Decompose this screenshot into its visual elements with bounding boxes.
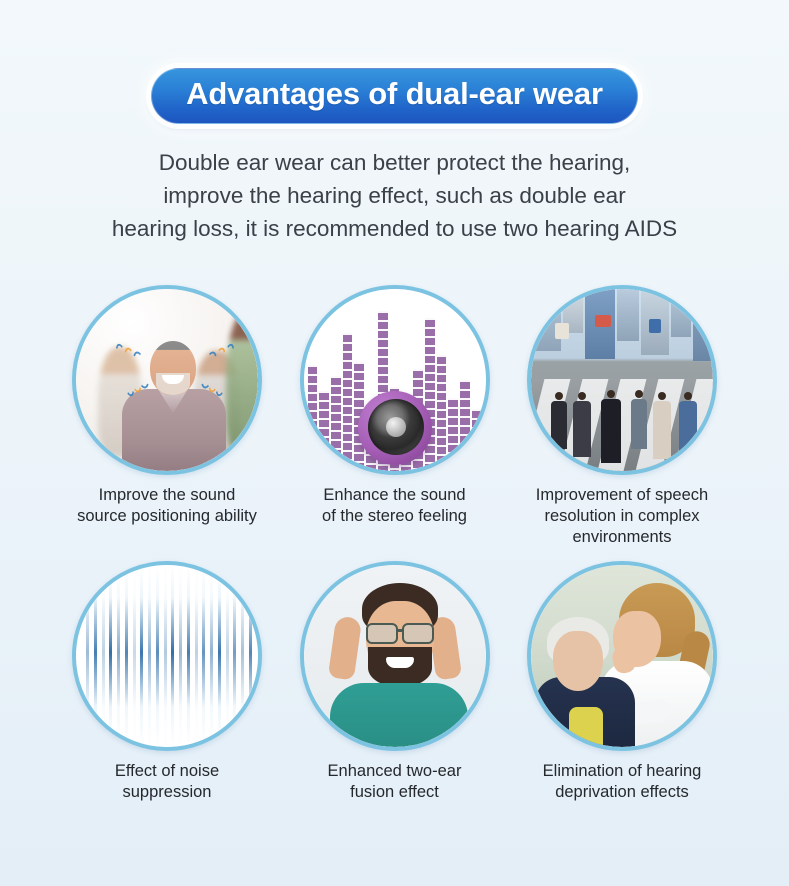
waveform-line [109,565,112,747]
page-title-container: Advantages of dual-ear wear [0,68,789,124]
feature-caption-line: source positioning ability [60,506,274,527]
billboard [649,319,661,333]
feature-item-speech-resolution-complex[interactable]: Improvement of speech resolution in comp… [517,285,727,548]
pedestrian [631,399,647,449]
waveform-line [86,565,89,747]
waveform-line [187,565,190,747]
pedestrian [653,401,671,459]
waveform-line [156,565,159,747]
feature-caption-line: environments [515,527,729,548]
teal-shirt [330,683,468,747]
billboard [555,323,569,339]
waveform-line [94,565,97,747]
feature-row-1: Improve the sound source positioning abi… [62,285,727,548]
feature-caption: Improvement of speech resolution in comp… [515,485,729,548]
feature-caption-line: Improve the sound [60,485,274,506]
waveform-line [102,565,105,747]
pedestrian [551,401,567,449]
waveform-line [140,565,143,747]
equalizer-bar [308,365,318,471]
waveform-line [195,565,198,747]
building [535,289,561,351]
waveform-line [241,565,244,747]
blue-audio-waveform-graphic [76,565,258,747]
waveform-line [218,565,221,747]
feature-item-stereo-feeling[interactable]: Enhance the sound of the stereo feeling [290,285,500,527]
feature-caption: Improve the sound source positioning abi… [60,485,274,527]
subtitle-paragraph: Double ear wear can better protect the h… [0,146,789,245]
feature-image-circle [300,561,490,751]
feature-row-2: Effect of noise suppression [62,561,727,803]
equalizer-bar [343,333,353,471]
glasses-lens [402,623,434,644]
feature-grid: Improve the sound source positioning abi… [62,285,727,803]
waveform-line [233,565,236,747]
feature-item-two-ear-fusion[interactable]: Enhanced two-ear fusion effect [290,561,500,803]
waveform-line [164,565,167,747]
man-cupping-ears-photo [304,565,486,747]
glasses-lens [366,623,398,644]
building [693,289,713,361]
caregiver-with-elderly-woman-photo [531,565,713,747]
man-with-sound-waves-photo [76,289,258,471]
city-crosswalk-crowd-photo [531,289,713,471]
speaker-cone [386,417,406,437]
building [617,289,639,341]
page-title: Advantages of dual-ear wear [186,78,603,111]
feature-image-circle [300,285,490,475]
waveform-line [133,565,136,747]
feature-caption-line: Enhanced two-ear [288,761,502,782]
feature-caption-line: suppression [60,782,274,803]
title-banner: Advantages of dual-ear wear [151,68,638,124]
feature-item-sound-source-positioning[interactable]: Improve the sound source positioning abi… [62,285,272,527]
equalizer-bar [331,376,341,471]
subtitle-line-2: improve the hearing effect, such as doub… [0,179,789,212]
feature-caption-line: Enhance the sound [288,485,502,506]
feature-caption-line: Elimination of hearing [515,761,729,782]
subtitle-line-3: hearing loss, it is recommended to use t… [0,212,789,245]
man-smile [386,657,414,668]
waveform-line [226,565,229,747]
feature-item-hearing-deprivation[interactable]: Elimination of hearing deprivation effec… [517,561,727,803]
cupped-hand-left [327,615,361,680]
waveform-line [125,565,128,747]
feature-caption-line: fusion effect [288,782,502,803]
feature-image-circle [72,561,262,751]
feature-caption-line: resolution in complex [515,506,729,527]
feature-caption-line: of the stereo feeling [288,506,502,527]
waveform-line [249,565,252,747]
elderly-woman-shirt [569,707,603,747]
elderly-woman-face [553,631,603,691]
feature-item-noise-suppression[interactable]: Effect of noise suppression [62,561,272,803]
waveform-line [179,565,182,747]
feature-caption: Enhanced two-ear fusion effect [288,761,502,803]
subtitle-line-1: Double ear wear can better protect the h… [0,146,789,179]
feature-caption: Enhance the sound of the stereo feeling [288,485,502,527]
promotional-infographic-page: Advantages of dual-ear wear Double ear w… [0,0,789,886]
waveform-line [210,565,213,747]
waveform-line [171,565,174,747]
equalizer-bar [319,391,329,471]
purple-equalizer-speaker-graphic [304,289,486,471]
pedestrian [573,401,591,457]
feature-image-circle [527,285,717,475]
feature-caption: Effect of noise suppression [60,761,274,803]
feature-caption-line: Improvement of speech [515,485,729,506]
building [671,289,691,337]
feature-image-circle [527,561,717,751]
pedestrian [679,401,697,461]
feature-caption-line: deprivation effects [515,782,729,803]
city-skyline [531,289,713,367]
feature-caption-line: Effect of noise [60,761,274,782]
feature-caption: Elimination of hearing deprivation effec… [515,761,729,803]
feature-image-circle [72,285,262,475]
waveform-line [117,565,120,747]
eyeglasses-icon [364,623,436,640]
pedestrian [601,399,621,463]
billboard [595,315,611,327]
waveform-line [148,565,151,747]
background-person [226,309,258,459]
waveform-line [202,565,205,747]
